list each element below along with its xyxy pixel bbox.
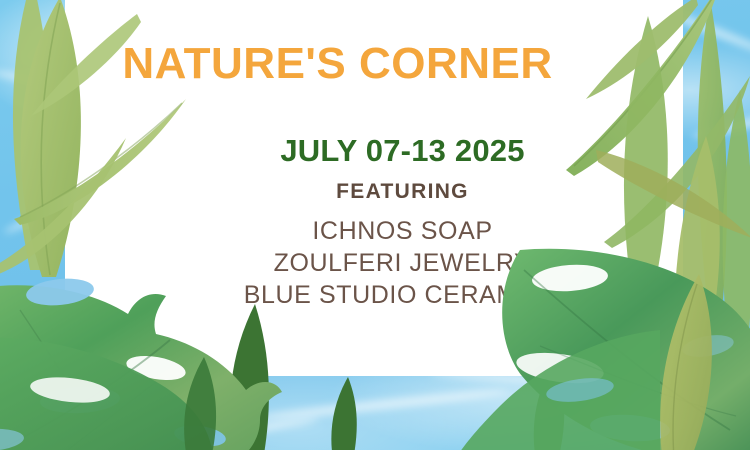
olive-leaf-topleft-4 — [25, 10, 145, 120]
olive-leaf-midright — [596, 128, 750, 248]
foreground-foliage-layer — [0, 0, 750, 450]
poster-canvas: NATURE'S CORNER JULY 07-13 2025 FEATURIN… — [0, 0, 750, 450]
monstera-leaf-bottomright-lower — [430, 330, 660, 450]
olive-blade-bottomright — [645, 270, 750, 450]
blade-leaf-bottomleft-front — [170, 355, 250, 450]
olive-leaf-tip-title — [580, 0, 700, 105]
